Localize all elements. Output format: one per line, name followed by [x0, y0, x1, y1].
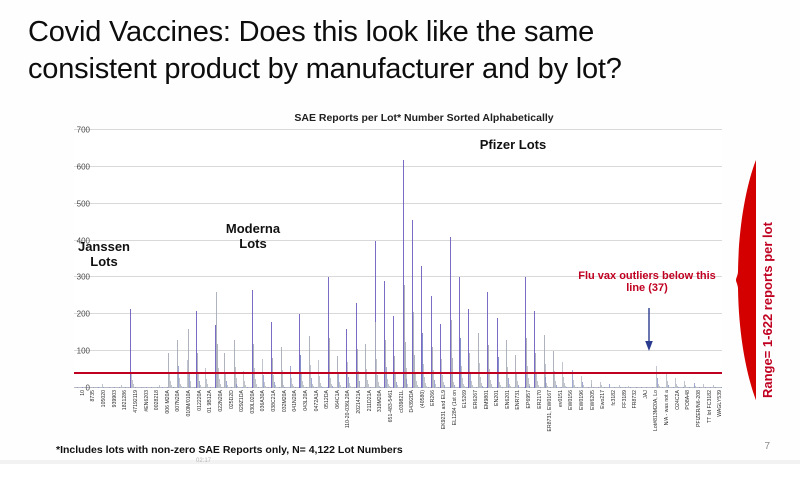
x-axis-labels: 108735105020939903182128647192119#EN6203…	[74, 390, 722, 478]
x-axis-tick: 025D2D	[229, 390, 235, 409]
x-axis-tick: 043L20A	[303, 390, 309, 411]
x-axis-tick: 029Z1DA	[239, 390, 245, 412]
x-axis-tick: 007N20A	[175, 390, 181, 412]
y-axis-tick: 500	[50, 199, 90, 208]
x-axis-tick: fc3182	[611, 390, 617, 406]
y-axis-tick: 100	[50, 347, 90, 356]
x-axis-tick: 651-483-5461	[388, 390, 394, 422]
x-axis-tick: ER6267	[473, 390, 479, 409]
x-axis-tick: 030L020A	[250, 390, 256, 414]
chart-plot-area	[74, 130, 722, 388]
x-axis-tick: ER8731, EW0167	[547, 390, 553, 431]
x-axis-tick: 012220A	[197, 390, 203, 411]
x-axis-tick: FF3189	[622, 390, 628, 408]
chart-container: SAE Reports per Lot* Number Sorted Alpha…	[34, 112, 734, 442]
video-timestamp: 02:17	[196, 458, 211, 464]
x-axis-tick: 0512DA	[324, 390, 330, 409]
x-axis-tick: EL5269	[462, 390, 468, 408]
x-axis-tick: EL1284 (1st on	[452, 390, 458, 425]
y-axis-tick: 600	[50, 162, 90, 171]
bottom-bar	[0, 460, 800, 464]
x-axis-tick: 022N20A	[218, 390, 224, 412]
x-axis-tick: 01 9B12A	[207, 390, 213, 413]
x-axis-tick: TT lot FC3182	[707, 390, 713, 423]
x-axis-tick: 006 M20A	[165, 390, 171, 414]
x-axis-tick: EP6957	[526, 390, 532, 408]
y-axis-tick: 700	[50, 126, 90, 135]
down-arrow-icon	[642, 308, 656, 352]
x-axis-tick: N/A - was not a	[664, 390, 670, 425]
x-axis-tick: 10	[80, 390, 86, 396]
x-axis-tick: 0472A1A	[314, 390, 320, 411]
bar-series	[74, 130, 722, 388]
x-axis-tick: 032M20A	[282, 390, 288, 412]
x-axis-tick: 038C21A	[271, 390, 277, 412]
x-axis-tick: ENR731	[515, 390, 521, 410]
y-axis-tick: 300	[50, 273, 90, 282]
x-axis-tick: EW6205	[590, 390, 596, 410]
x-axis-tick: EW0196	[579, 390, 585, 410]
x-axis-tick: EN6201	[505, 390, 511, 409]
x-axis-tick: c039821L	[399, 390, 405, 413]
x-axis-tick: 036A30A	[260, 390, 266, 411]
x-axis-tick: 47192119	[133, 390, 139, 413]
slide-root: Covid Vaccines: Does this look like the …	[0, 0, 800, 464]
bar	[721, 387, 722, 388]
x-axis-tick: 064C1A	[335, 390, 341, 409]
page-number: 7	[764, 441, 770, 452]
page-title: Covid Vaccines: Does this look like the …	[28, 14, 728, 88]
threshold-line	[74, 372, 722, 374]
x-axis-tick: 105020	[101, 390, 107, 407]
curly-brace-icon	[736, 160, 758, 400]
x-axis-tick: 2021421A	[356, 390, 362, 414]
x-axis-tick: WAGLY539	[717, 390, 723, 417]
x-axis-tick: EW0156	[568, 390, 574, 410]
chart-title: SAE Reports per Lot* Number Sorted Alpha…	[214, 112, 634, 124]
range-brace	[736, 160, 758, 400]
x-axis-tick: FR8732	[632, 390, 638, 408]
y-axis-tick: 400	[50, 236, 90, 245]
x-axis-tick: PFIZER/N6-208	[696, 390, 702, 427]
x-axis-tick: #EN6203	[144, 390, 150, 412]
x-axis-tick: ER2170	[537, 390, 543, 409]
x-axis-tick: D4392DA	[409, 390, 415, 412]
x-axis-tick: 010M/010A	[186, 390, 192, 417]
x-axis-tick: EK9231 and EL9	[441, 390, 447, 429]
x-axis-tick: EM9801	[484, 390, 490, 409]
x-axis-tick: 8735	[90, 390, 96, 402]
range-label: Range= 1-622 reports per lot	[760, 168, 775, 398]
x-axis-tick: EN201	[494, 390, 500, 406]
x-axis-tick: O24C2A	[675, 390, 681, 410]
x-axis-tick: 041N20A	[292, 390, 298, 412]
x-axis-tick: 0028218	[154, 390, 160, 410]
x-axis-tick: ER266	[430, 390, 436, 406]
x-axis-tick: Lot#813M20A, Lo	[653, 390, 659, 431]
x-axis-tick: JAJ	[643, 390, 649, 399]
footnote: *Includes lots with non-zero SAE Reports…	[56, 444, 403, 456]
x-axis-tick: 211D21A	[367, 390, 373, 411]
x-axis-tick: ev0151	[558, 390, 564, 407]
y-axis-tick: 200	[50, 310, 90, 319]
x-axis-tick: 939903	[112, 390, 118, 407]
x-axis-tick: (40580)	[420, 390, 426, 408]
x-axis-tick: PO8A48	[685, 390, 691, 410]
x-axis-tick: Ewo217	[600, 390, 606, 409]
x-axis-tick: 1821286	[122, 390, 128, 410]
x-axis-tick: 310M20A	[377, 390, 383, 412]
x-axis-tick: 110-20-036L20A	[345, 390, 351, 428]
